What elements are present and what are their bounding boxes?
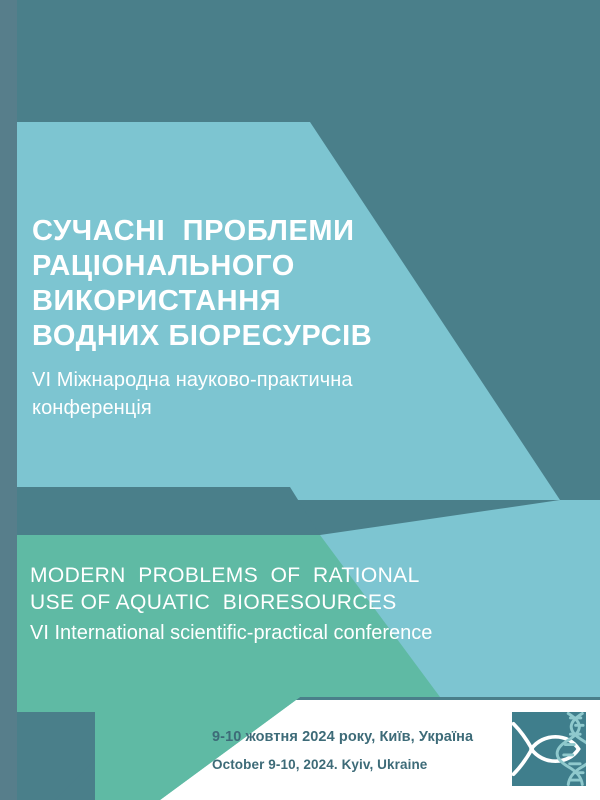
logo-square	[512, 712, 586, 786]
title-english: MODERN PROBLEMS OF RATIONAL USE OF AQUAT…	[30, 562, 500, 616]
conference-poster: СУЧАСНІ ПРОБЛЕМИ РАЦІОНАЛЬНОГО ВИКОРИСТА…	[0, 0, 600, 800]
title-uk-line-2: РАЦІОНАЛЬНОГО	[32, 249, 432, 284]
title-uk-line-1: СУЧАСНІ ПРОБЛЕМИ	[32, 214, 432, 249]
title-ukrainian: СУЧАСНІ ПРОБЛЕМИ РАЦІОНАЛЬНОГО ВИКОРИСТА…	[32, 214, 432, 354]
date-venue-english: October 9-10, 2024. Kyiv, Ukraine	[212, 754, 492, 776]
subtitle-uk-line-1: VI Міжнародна науково-практична	[32, 366, 422, 394]
title-en-line-1: MODERN PROBLEMS OF RATIONAL	[30, 562, 500, 589]
subtitle-ukrainian: VI Міжнародна науково-практична конферен…	[32, 366, 422, 422]
title-en-line-2: USE OF AQUATIC BIORESOURCES	[30, 589, 500, 616]
title-uk-line-4: ВОДНИХ БІОРЕСУРСІВ	[32, 319, 432, 354]
event-date-venue: 9-10 жовтня 2024 року, Київ, Україна Oct…	[212, 726, 492, 776]
poster-text-layer: СУЧАСНІ ПРОБЛЕМИ РАЦІОНАЛЬНОГО ВИКОРИСТА…	[0, 0, 600, 800]
title-uk-line-3: ВИКОРИСТАННЯ	[32, 284, 432, 319]
subtitle-uk-line-2: конференція	[32, 394, 422, 422]
fish-dna-logo	[512, 712, 586, 786]
subtitle-english: VI International scientific-practical co…	[30, 620, 530, 646]
date-venue-ukrainian: 9-10 жовтня 2024 року, Київ, Україна	[212, 726, 492, 748]
